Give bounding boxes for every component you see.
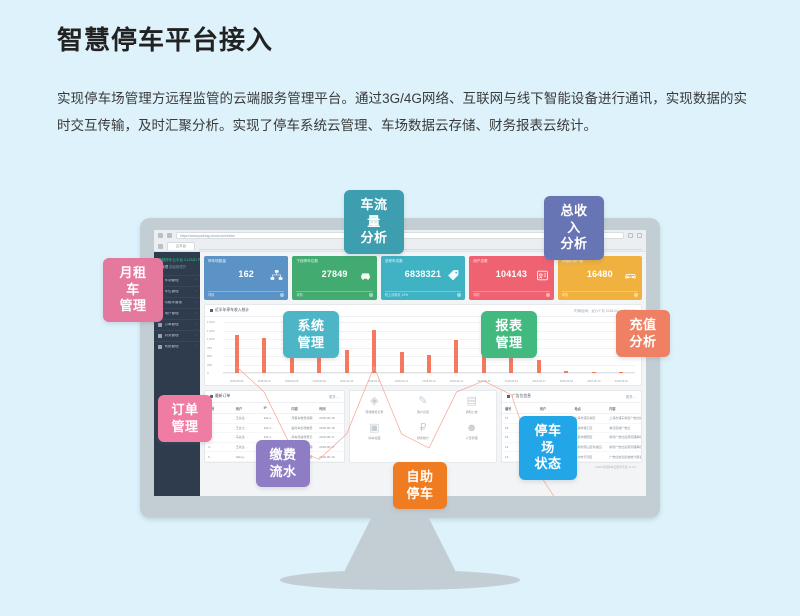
callout-payment-flow[interactable]: 缴费流水 [256,440,310,487]
sitemap-icon [270,269,283,287]
chart-x-tick: 2018-06-18 [553,380,580,383]
callout-line: 充值 [627,317,659,334]
chart-x-tick: 2018-06-13 [415,380,442,383]
car-front-icon [624,269,637,287]
chart-x-labels: 2018-06-062018-06-072018-06-082018-06-09… [223,380,635,383]
kpi-footer[interactable]: 详情 [562,292,568,297]
chart-x-tick: 2018-06-06 [223,380,250,383]
chart-x-tick: 2018-06-09 [305,380,332,383]
chevron-right-icon: › [196,290,197,294]
chart-panel: 近半年停车收入统计 时间区间：近六个月 2018-01 ～ 2018-06 1,… [204,304,642,386]
sidebar-item-label: 订单管理 [165,323,194,327]
chevron-right-icon: › [196,334,197,338]
sidebar-item-label: 车位管理 [165,290,194,294]
kpi-divider [208,291,284,292]
kpi-card-4[interactable]: 月租车用户数16480详情 [558,256,642,300]
sidebar-user-role: 超级管理员 [169,265,186,269]
callout-system-management[interactable]: 系统管理 [283,311,339,358]
id-card-icon [536,269,549,287]
sidebar-item-label: 财务管理 [165,334,194,338]
chart-x-tick: 2018-06-20 [608,380,635,383]
kpi-footer[interactable]: 详情 [473,292,479,297]
chevron-right-icon: › [196,279,197,283]
chart-y-tick: 500 [207,354,212,358]
chart-x-tick: 2018-06-10 [333,380,360,383]
order-icon [158,323,162,327]
car-icon [359,269,372,287]
menu-icon[interactable] [158,233,163,238]
chart-x-tick: 2018-06-14 [443,380,470,383]
sidebar-item-label: 系统管理 [165,345,194,349]
callout-line: 流水 [267,464,299,481]
kpi-footer[interactable]: 详情 [296,292,302,297]
star-icon[interactable] [628,233,633,238]
sidebar-item-label: 月租车管理 [165,301,194,305]
kpi-divider [296,291,372,292]
kpi-divider [473,291,549,292]
callout-line: 管理 [492,335,526,352]
wallet-icon [158,334,162,338]
chart-y-tick: 750 [207,346,212,350]
callout-line: 分析 [555,236,593,253]
callout-line: 分析 [355,230,393,247]
callout-report-management[interactable]: 报表管理 [481,311,537,358]
chart-x-tick: 2018-06-17 [525,380,552,383]
chart-x-tick: 2018-06-11 [360,380,387,383]
kpi-card-0[interactable]: 停车场数量162详情 [204,256,288,300]
callout-order-management[interactable]: 订单管理 [158,395,212,442]
chart-title: 近半年停车收入统计 [215,308,249,313]
chevron-right-icon[interactable] [280,293,284,297]
chevron-right-icon[interactable] [546,293,550,297]
page-root: 智慧停车平台接入 实现停车场管理方远程监管的云端服务管理平台。通过3G/4G网络… [0,0,800,616]
callout-line: 订单 [169,402,201,419]
chart-x-tick: 2018-06-19 [580,380,607,383]
callout-line: 月租车 [114,265,152,298]
callout-line: 管理 [169,419,201,436]
callout-line: 管理 [114,298,152,315]
chart-x-tick: 2018-06-15 [470,380,497,383]
chart-y-tick: 1,250 [207,329,215,333]
chart-x-tick: 2018-06-16 [498,380,525,383]
callout-line: 报表 [492,318,526,335]
chart-panel-header: 近半年停车收入统计 时间区间：近六个月 2018-01 ～ 2018-06 [205,305,641,317]
kpi-card-3[interactable]: 用户总数104143详情 [469,256,553,300]
sidebar-item-5[interactable]: 财务管理› [154,330,200,341]
callout-total-revenue-analysis[interactable]: 总收入分析 [544,196,604,260]
callout-line: 管理 [294,335,328,352]
chart-y-tick: 1,000 [207,337,215,341]
lock-icon [167,233,172,238]
back-icon[interactable] [158,244,163,249]
chart-bullet-icon [210,309,213,312]
callout-line: 总收入 [555,203,593,236]
chart-x-tick: 2018-06-07 [250,380,277,383]
revenue-bar-chart: 1,5001,2501,00075050025002018-06-062018-… [205,317,641,385]
callout-traffic-flow-analysis[interactable]: 车流量分析 [344,190,404,254]
kpi-title: 下线停车位数 [296,259,372,263]
callout-line: 车流量 [355,197,393,230]
callout-line: 分析 [627,334,659,351]
kpi-footer[interactable]: 详情 [208,292,214,297]
kpi-card-row: 停车场数量162详情下线停车位数27849详情总停车次数6838321较上月增长… [204,256,642,300]
sidebar-item-6[interactable]: 系统管理› [154,341,200,352]
chevron-right-icon: › [196,345,197,349]
chevron-right-icon[interactable] [369,293,373,297]
kpi-title: 停车场数量 [208,259,284,263]
sidebar-item-label: 车场管理 [165,279,194,283]
callout-line: 系统 [294,318,328,335]
sidebar-item-4[interactable]: 订单管理› [154,319,200,330]
chart-y-tick: 1,500 [207,320,215,324]
chevron-right-icon: › [196,323,197,327]
chart-x-tick: 2018-06-12 [388,380,415,383]
kpi-divider [562,291,638,292]
kpi-title: 用户总数 [473,259,549,263]
chart-x-tick: 2018-06-08 [278,380,305,383]
chevron-right-icon: › [196,301,197,305]
tag-icon [447,269,460,287]
browser-tab[interactable]: 云平台 [167,242,195,250]
callout-line: 停车 [404,486,436,503]
gear-icon [158,345,162,349]
callout-line: 缴费 [267,447,299,464]
kpi-card-2[interactable]: 总停车次数6838321较上月增长 12% [381,256,465,300]
kpi-title: 总停车次数 [385,259,461,263]
callout-parking-lot-status[interactable]: 停车场状态 [519,416,577,480]
callout-monthly-rental-management[interactable]: 月租车管理 [103,258,163,322]
settings-icon[interactable] [637,233,642,238]
monitor-base [280,570,520,590]
chevron-right-icon[interactable] [457,293,461,297]
chevron-right-icon: › [196,312,197,316]
page-title: 智慧停车平台接入 [57,20,273,57]
intro-paragraph: 实现停车场管理方远程监管的云端服务管理平台。通过3G/4G网络、互联网与线下智能… [57,85,747,139]
chevron-right-icon[interactable] [634,293,638,297]
callout-line: 状态 [530,456,566,473]
chart-y-tick: 250 [207,363,212,367]
callout-recharge-analysis[interactable]: 充值分析 [616,310,670,357]
kpi-footer[interactable]: 较上月增长 12% [385,292,408,297]
chart-y-tick: 0 [207,371,209,375]
sidebar-item-label: 用户管理 [165,312,194,316]
callout-self-service-parking[interactable]: 自助停车 [393,462,447,509]
kpi-card-1[interactable]: 下线停车位数27849详情 [292,256,376,300]
callout-line: 停车场 [530,423,566,456]
callout-line: 自助 [404,469,436,486]
